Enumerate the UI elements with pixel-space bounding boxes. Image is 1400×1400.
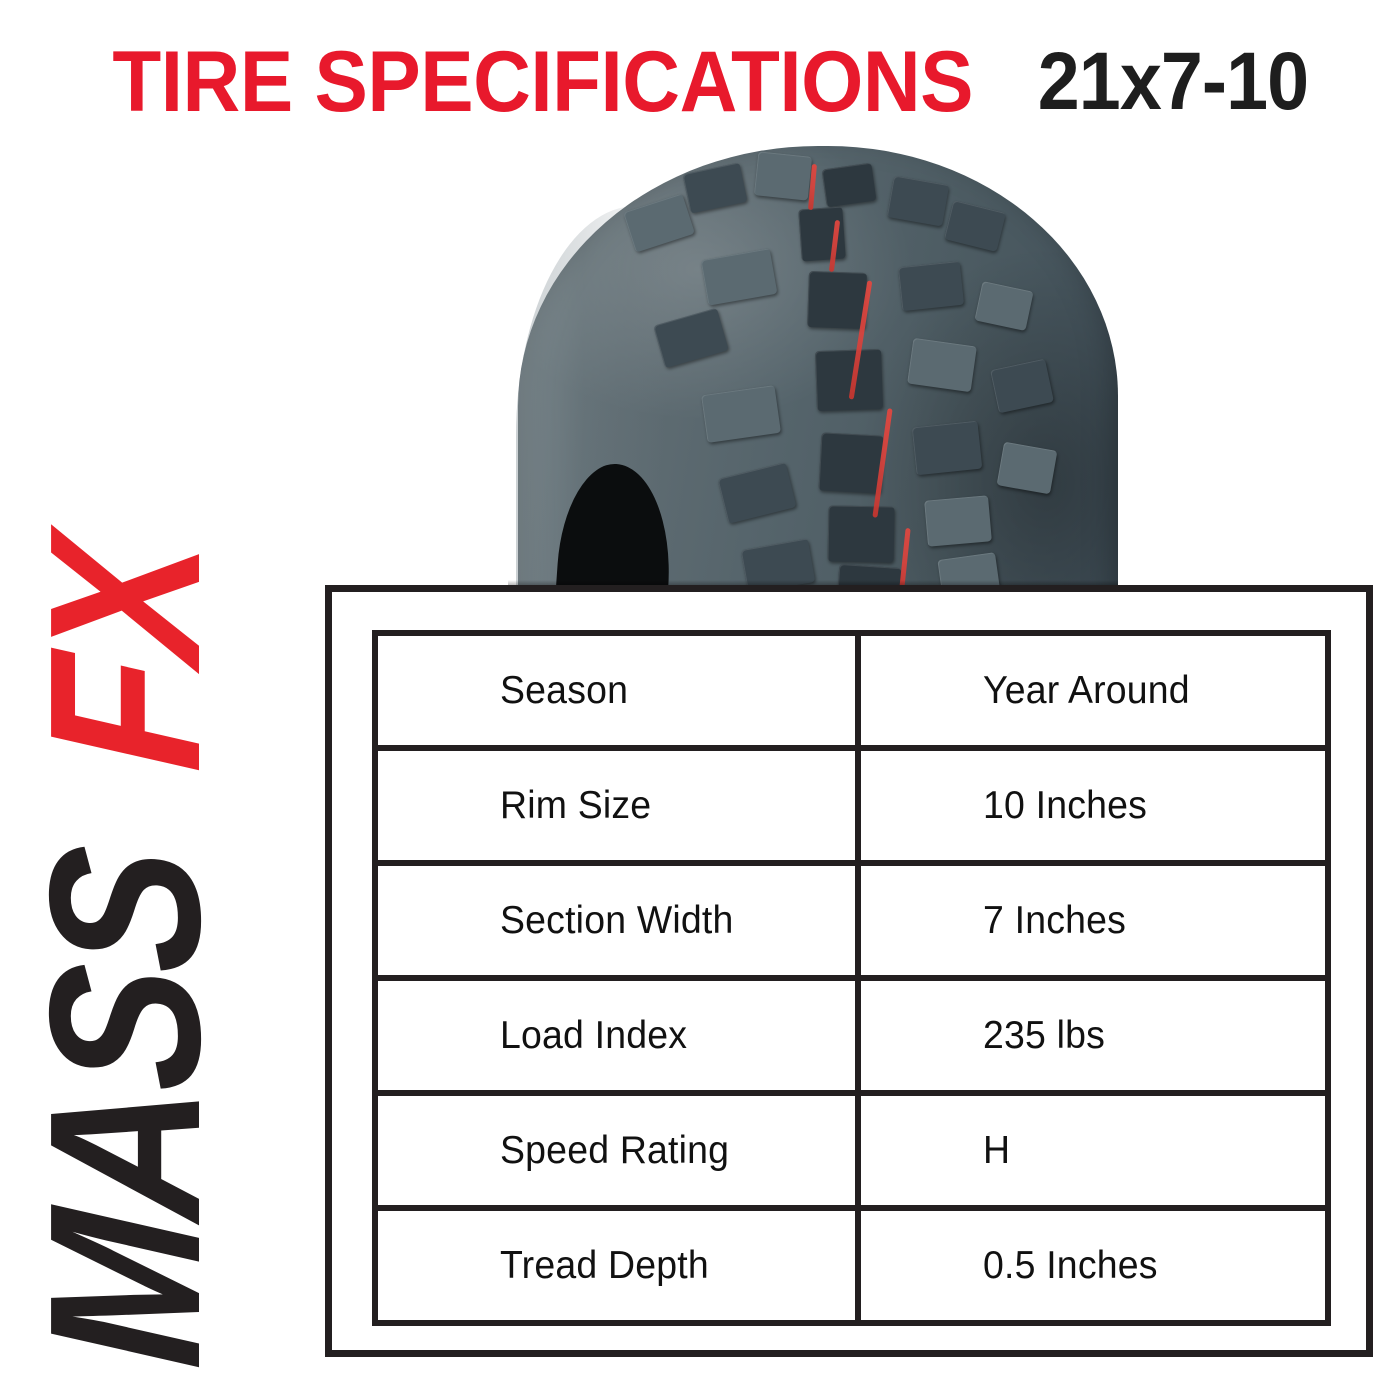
table-row: Load Index 235 lbs (375, 978, 1328, 1093)
spec-label: Rim Size (500, 784, 651, 828)
brand-logo-mass: MASS (22, 846, 228, 1372)
table-row: Rim Size 10 Inches (375, 748, 1328, 863)
spec-value-cell: 235 lbs (858, 978, 1328, 1093)
tread-lug (828, 505, 895, 562)
tread-lug (912, 421, 983, 476)
spec-label-cell: Season (375, 633, 858, 748)
page-title-main: TIRE SPECIFICATIONS (113, 36, 974, 128)
spec-value: 7 Inches (983, 899, 1126, 943)
tread-lug (822, 163, 877, 208)
spec-value: Year Around (983, 669, 1190, 713)
spec-value: 0.5 Inches (983, 1244, 1158, 1288)
spec-label-cell: Speed Rating (375, 1093, 858, 1208)
spec-value: H (983, 1129, 1010, 1173)
spec-label: Load Index (500, 1014, 687, 1058)
page-title-size: 21x7-10 (1037, 36, 1307, 128)
tread-lug (898, 261, 964, 311)
spec-value: 235 lbs (983, 1014, 1105, 1058)
tread-lug (807, 271, 867, 329)
spec-label-cell: Section Width (375, 863, 858, 978)
tire-spec-infographic: TIRE SPECIFICATIONS 21x7-10 MASS FX (0, 0, 1400, 1400)
tread-lug (924, 495, 992, 546)
tread-lug (907, 338, 977, 392)
spec-label-cell: Load Index (375, 978, 858, 1093)
brand-logo: MASS FX (22, 176, 228, 1366)
spec-label: Section Width (500, 899, 733, 943)
tread-lug (819, 432, 884, 493)
tread-lug (701, 385, 781, 443)
spec-value-cell: H (858, 1093, 1328, 1208)
table-row: Season Year Around (375, 633, 1328, 748)
tire-product-image (508, 146, 1118, 590)
spec-label-cell: Tread Depth (375, 1208, 858, 1323)
spec-value-cell: 10 Inches (858, 748, 1328, 863)
spec-value: 10 Inches (983, 784, 1147, 828)
tread-lug (754, 151, 812, 200)
tread-lug (815, 349, 883, 411)
page-title: TIRE SPECIFICATIONS 21x7-10 (0, 36, 1400, 128)
brand-logo-fx: FX (22, 537, 228, 775)
table-row: Section Width 7 Inches (375, 863, 1328, 978)
tire-specifications-table: Season Year Around Rim Size 10 Inches Se… (372, 630, 1331, 1326)
spec-label: Tread Depth (500, 1244, 709, 1288)
table-row: Speed Rating H (375, 1093, 1328, 1208)
brand-logo-rotated: MASS FX (22, 176, 228, 1366)
spec-value-cell: 0.5 Inches (858, 1208, 1328, 1323)
table-row: Tread Depth 0.5 Inches (375, 1208, 1328, 1323)
tread-lug (997, 442, 1058, 495)
spec-label: Speed Rating (500, 1129, 729, 1173)
spec-label: Season (500, 669, 628, 713)
tread-lug (798, 207, 846, 262)
spec-value-cell: 7 Inches (858, 863, 1328, 978)
spec-value-cell: Year Around (858, 633, 1328, 748)
spec-label-cell: Rim Size (375, 748, 858, 863)
